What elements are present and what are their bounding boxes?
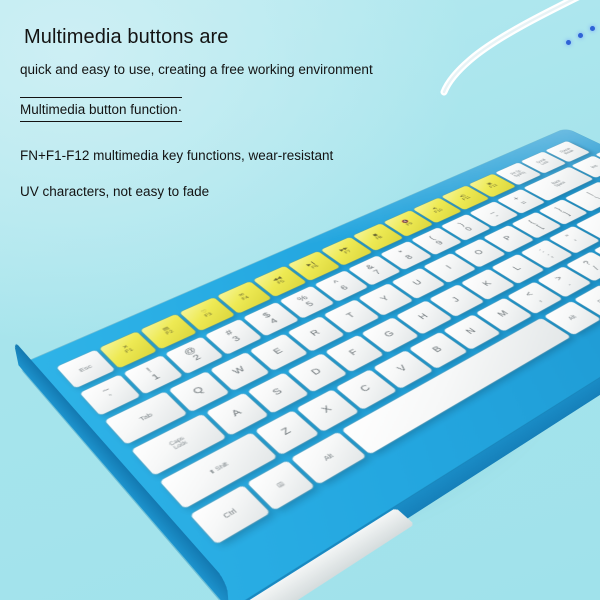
caps-lock-led	[578, 33, 583, 38]
num-lock-led	[566, 40, 571, 45]
section-rule-bottom	[20, 121, 182, 122]
keycap-label: _ -	[485, 209, 504, 219]
keycap-label: ◀◀ F5	[272, 276, 287, 285]
section-rule-top	[20, 97, 182, 98]
keycap-label: ▶❙ F6	[306, 261, 322, 270]
keycap-label: P	[502, 235, 514, 242]
keycap-label: { [	[528, 220, 546, 230]
keycap-label: Scroll Lock	[536, 159, 551, 166]
keycap-label: Prt Sc SysRq	[510, 169, 527, 177]
keycap-label: U	[412, 279, 425, 287]
keycap-label: ( 9	[427, 235, 446, 246]
keycap-label: Pause Break	[559, 148, 575, 156]
keycap-label: : ;	[538, 249, 556, 259]
keycap-label: ◂)) F11	[458, 194, 473, 202]
keycap-label: K	[481, 280, 494, 288]
keycap-label: ) 0	[456, 222, 475, 233]
keycap-label: & 7	[365, 264, 385, 276]
subheadline: quick and easy to use, creating a free w…	[20, 62, 373, 77]
keycap-label: ◼ F8	[371, 233, 384, 241]
keycap-label: + =	[512, 196, 531, 206]
keycap-label: L	[512, 265, 524, 272]
keycap-label: O	[473, 249, 486, 257]
keycap-label: * 8	[397, 250, 416, 262]
section-title: Multimedia button function·	[20, 102, 182, 117]
keycap-label: 🔇 F9	[402, 220, 415, 227]
keycap-label: I	[445, 265, 455, 271]
keycap-label: ^ 6	[332, 279, 351, 291]
keycap-label: ◂) F10	[430, 206, 445, 214]
page-title: Multimedia buttons are	[24, 26, 229, 49]
feature-bullet-2: UV characters, not easy to fade	[20, 184, 209, 199]
keycap-label: ▶▶ F7	[339, 247, 354, 256]
keyboard: Esc✕ F1▤ F2♡ F3✉ F4◀◀ F5▶❙ F6▶▶ F7◼ F8🔇 …	[56, 141, 600, 571]
keycap-label: Ins	[589, 164, 599, 169]
product-image-canvas: Multimedia buttons are quick and easy to…	[0, 0, 600, 600]
keycap-label: Back Space	[550, 179, 567, 188]
keycap-label: " '	[565, 234, 584, 244]
feature-bullet-1: FN+F1-F12 multimedia key functions, wear…	[20, 148, 333, 163]
keycap-label: ? /	[582, 260, 600, 272]
keycap-label: | \	[586, 192, 600, 201]
keyboard-stage: Esc✕ F1▤ F2♡ F3✉ F4◀◀ F5▶❙ F6▶▶ F7◼ F8🔇 …	[0, 0, 600, 600]
keycap-label: ▣ F12	[485, 182, 500, 189]
scroll-lock-led	[590, 26, 595, 31]
keycap-label: } ]	[554, 207, 572, 216]
keycap-label: > .	[554, 275, 575, 287]
